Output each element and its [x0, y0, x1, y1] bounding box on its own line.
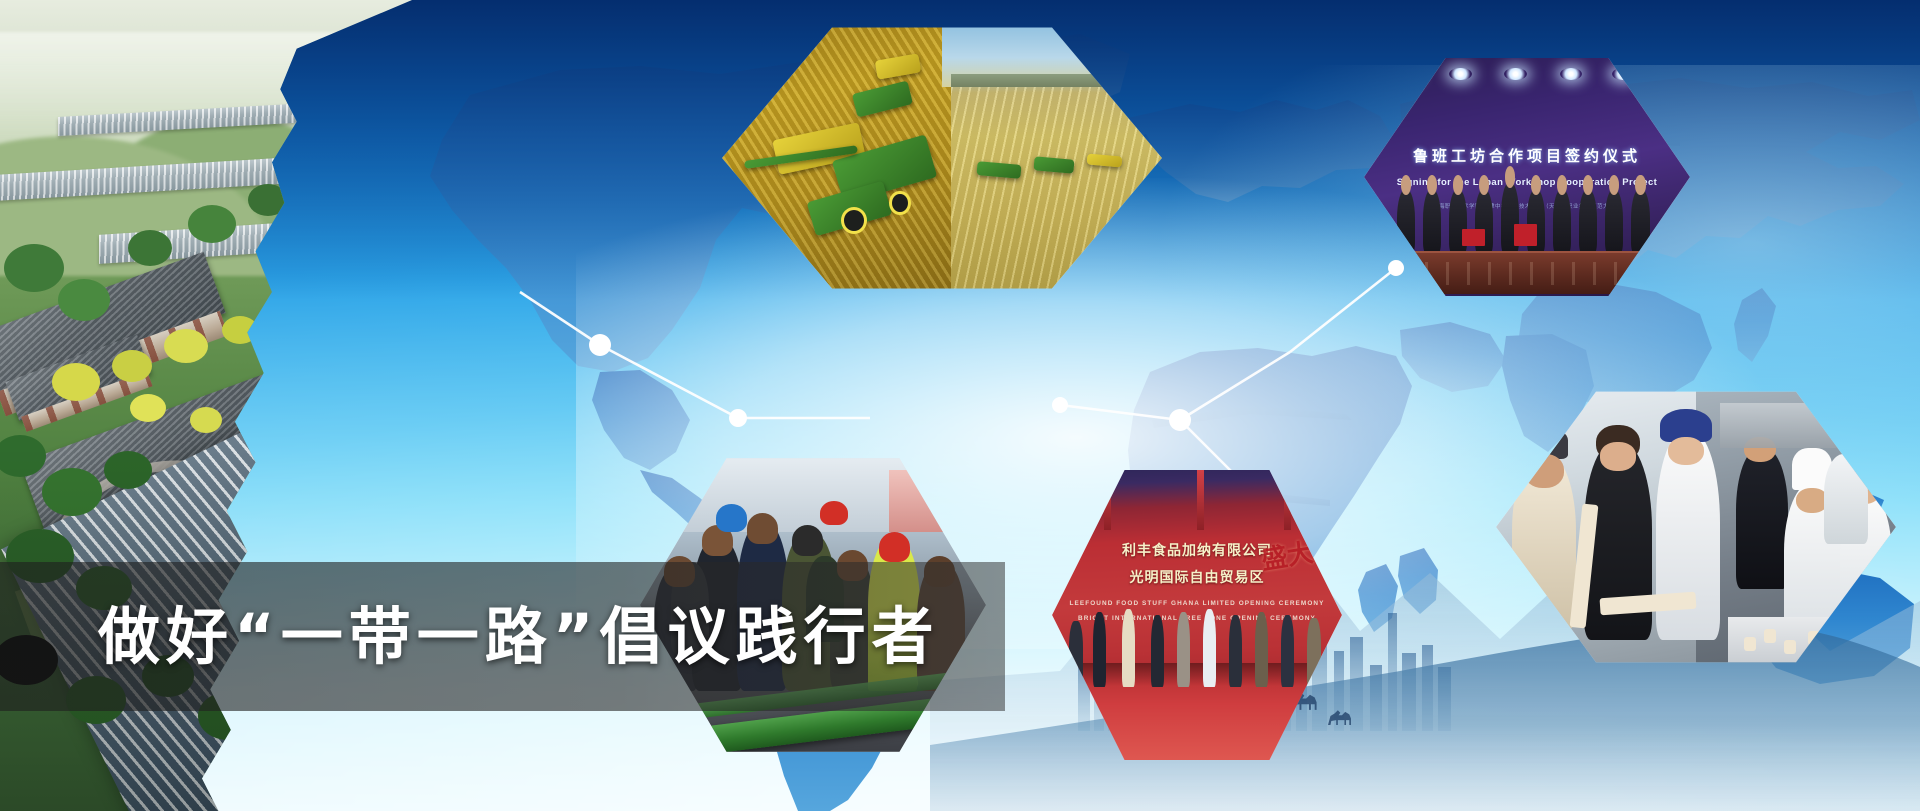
luban-banner-chinese: 鲁班工坊合作项目签约仪式	[1377, 145, 1677, 166]
banner-hero: 鲁班工坊合作项目签约仪式 Signing for the Luban Works…	[0, 0, 1920, 811]
connector-line-icon	[520, 268, 1396, 480]
blue-hard-hat-icon	[716, 504, 747, 532]
page-title: 做好“一带一路”倡议践行者	[98, 586, 940, 676]
red-hard-hat-icon	[879, 532, 910, 563]
luban-banner-english: Signing for the Luban Workshop Cooperati…	[1374, 177, 1680, 188]
leefound-banner-en-1: LEEFOUND FOOD STUFF GHANA LIMITED OPENIN…	[1058, 600, 1336, 607]
red-hard-hat-icon	[820, 501, 848, 525]
